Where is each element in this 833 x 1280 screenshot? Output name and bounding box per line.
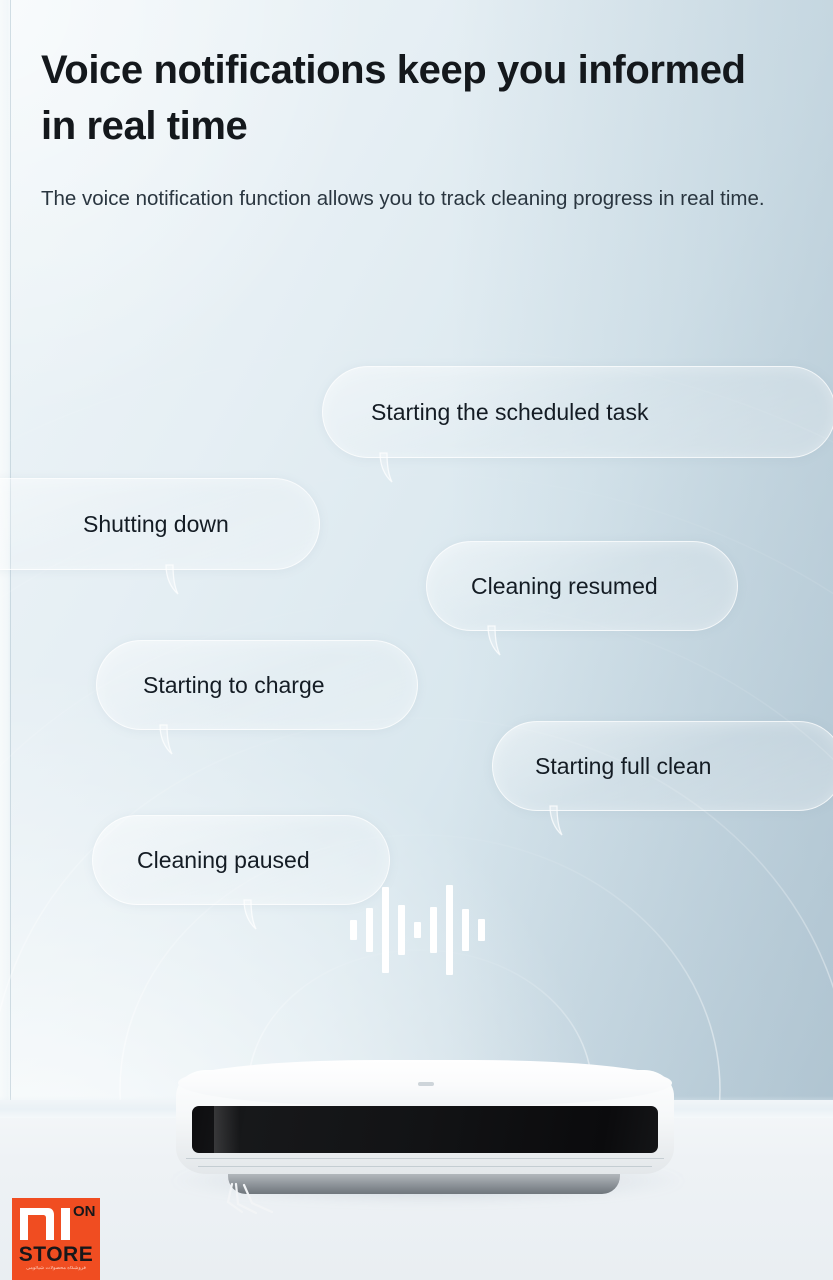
bubble-shutting-down: Shutting down [0, 478, 320, 570]
page-subtitle: The voice notification function allows y… [41, 181, 793, 217]
mi-logo-icon [18, 1206, 74, 1242]
bubble-tail-icon [549, 806, 583, 836]
robot-sensor-band [192, 1106, 658, 1153]
robot-band-highlight [214, 1106, 240, 1153]
robot-vacuum [176, 1060, 674, 1188]
robot-seam-lower [198, 1166, 652, 1167]
bubble-label: Cleaning paused [137, 847, 310, 874]
bubble-starting-the-scheduled-task: Starting the scheduled task [322, 366, 833, 458]
waveform-bar [366, 908, 373, 952]
waveform-bar [382, 887, 389, 973]
waveform-bar [430, 907, 437, 953]
logo-on-text: ON [73, 1204, 95, 1219]
voice-waveform [350, 882, 485, 978]
bubble-starting-full-clean: Starting full clean [492, 721, 833, 811]
waveform-bar [350, 920, 357, 940]
bubble-tail-icon [487, 626, 521, 656]
bubble-label: Cleaning resumed [471, 573, 658, 600]
left-edge-hairline [10, 0, 11, 1280]
waveform-bar [414, 922, 421, 938]
bubble-label: Starting to charge [143, 672, 325, 699]
robot-seam-upper [186, 1158, 664, 1159]
logo-tagline: فروشگاه محصولات شیائومی [15, 1266, 97, 1277]
promo-page: Voice notifications keep you informed in… [0, 0, 833, 1280]
bubble-label: Shutting down [83, 511, 229, 538]
waveform-bar [398, 905, 405, 955]
waveform-bar [462, 909, 469, 951]
robot-top-vent-icon [418, 1082, 434, 1086]
page-title: Voice notifications keep you informed in… [41, 42, 761, 154]
waveform-bar [446, 885, 453, 975]
robot-side-brush-icon [226, 1182, 356, 1216]
watermark-logo[interactable]: ON STORE فروشگاه محصولات شیائومی [12, 1198, 100, 1280]
bubble-label: Starting the scheduled task [371, 399, 648, 426]
bubble-cleaning-resumed: Cleaning resumed [426, 541, 738, 631]
bubble-tail-icon [159, 725, 193, 755]
bubble-starting-to-charge: Starting to charge [96, 640, 418, 730]
waveform-bar [478, 919, 485, 941]
bubble-tail-icon [243, 900, 277, 930]
logo-store-text: STORE [12, 1244, 100, 1265]
bubble-tail-icon [379, 453, 413, 483]
bubble-tail-icon [165, 565, 199, 595]
bubble-label: Starting full clean [535, 753, 711, 780]
bubble-cleaning-paused: Cleaning paused [92, 815, 390, 905]
